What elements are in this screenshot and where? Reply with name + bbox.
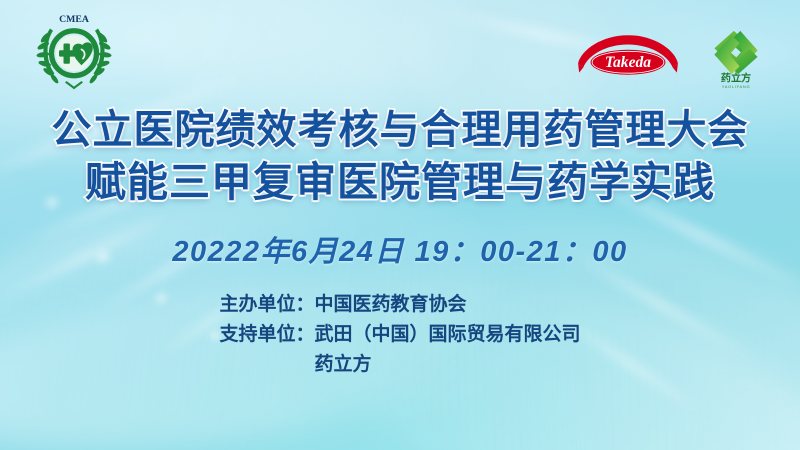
organizer-block: 主办单位：中国医药教育协会 支持单位：武田（中国）国际贸易有限公司 支持单位：药…: [0, 290, 800, 380]
title-line-1: 公立医院绩效考核与合理用药管理大会: [0, 106, 800, 154]
svg-text:CMEA: CMEA: [59, 14, 89, 25]
organizer-value-supporter-1: 武田（中国）国际贸易有限公司: [315, 320, 581, 350]
yaolifang-subtext: YAOLIFANG: [722, 84, 751, 89]
organizer-value-supporter-2: 药立方: [315, 350, 372, 380]
organizer-row-host: 主办单位：中国医药教育协会: [219, 290, 580, 320]
yaolifang-wordmark: 药立方: [721, 71, 751, 84]
svg-text:Takeda: Takeda: [605, 54, 651, 71]
organizer-row-supporter-1: 支持单位：武田（中国）国际贸易有限公司: [219, 320, 580, 350]
organizer-row-supporter-2: 支持单位：药立方: [219, 350, 580, 380]
organizer-label-host: 主办单位：: [219, 290, 314, 320]
event-datetime: 20222年6月24日 19：00-21：00: [0, 228, 800, 270]
cmea-logo: CMEA: [36, 12, 112, 90]
organizer-label-supporter: 支持单位：: [219, 320, 314, 350]
conference-poster: CMEA: [0, 0, 800, 450]
background-decoration: [0, 0, 800, 450]
poster-title: 公立医院绩效考核与合理用药管理大会 赋能三甲复审医院管理与药学实践: [0, 106, 800, 206]
organizer-value-host: 中国医药教育协会: [315, 290, 467, 320]
title-line-2: 赋能三甲复审医院管理与药学实践: [0, 158, 800, 206]
yaolifang-logo: 药立方 YAOLIFANG: [700, 28, 772, 90]
takeda-logo: Takeda: [576, 32, 680, 80]
